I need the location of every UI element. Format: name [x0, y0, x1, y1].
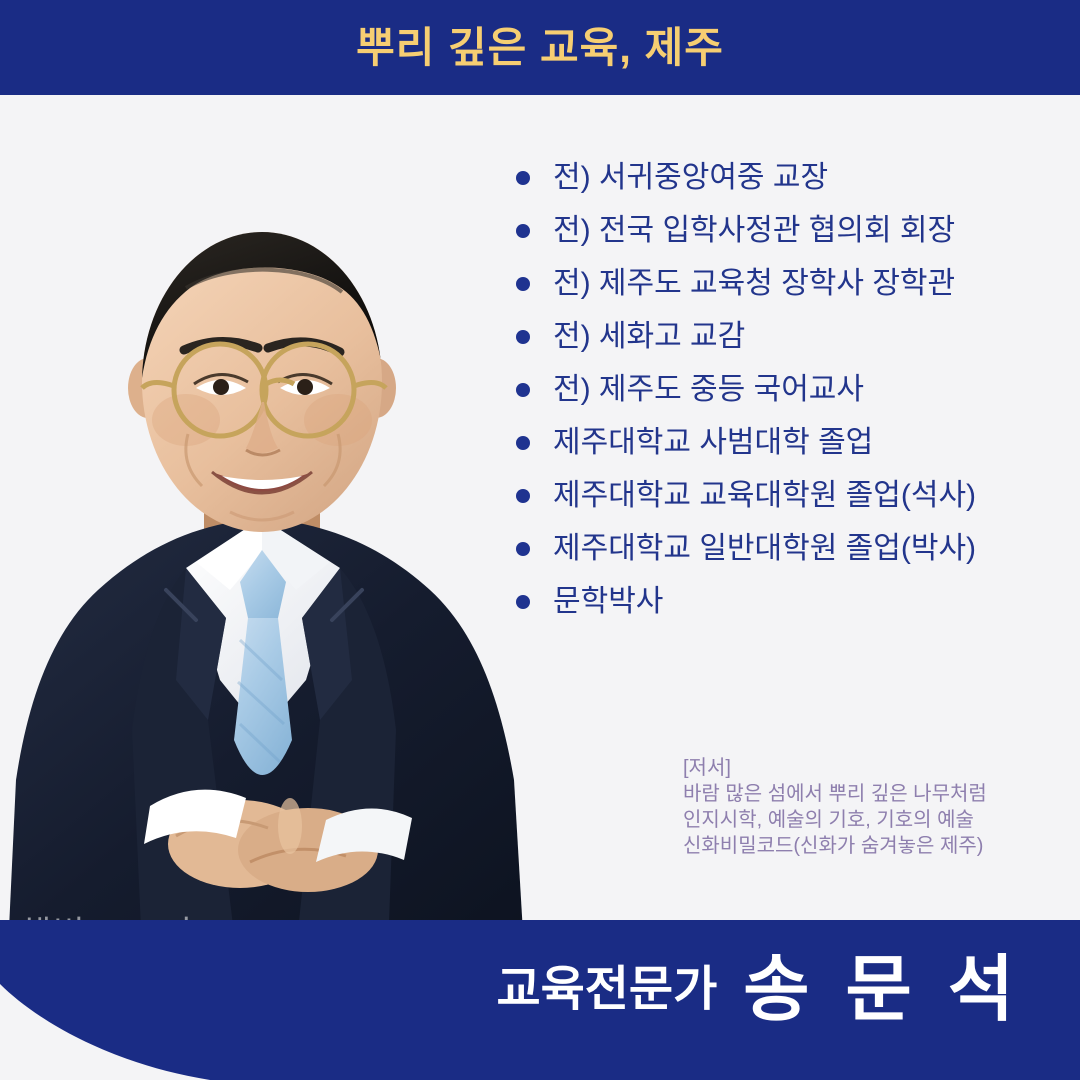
bullet-dot-icon	[516, 171, 530, 185]
bullet-dot-icon	[516, 224, 530, 238]
bullet-dot-icon	[516, 277, 530, 291]
publication-title: 신화비밀코드(신화가 숨겨놓은 제주)	[683, 833, 1080, 859]
list-item: 전) 서귀중앙여중 교장	[516, 158, 1076, 211]
credential-text: 전) 제주도 중등 국어교사	[553, 370, 864, 410]
bullet-dot-icon	[516, 489, 530, 503]
credential-text: 전) 제주도 교육청 장학사 장학관	[553, 264, 955, 304]
banner-text-group: 교육전문가 송 문 석	[0, 900, 1080, 1080]
credential-text: 제주대학교 교육대학원 졸업(석사)	[553, 476, 976, 516]
credential-text: 제주대학교 사범대학 졸업	[553, 423, 873, 463]
page-title: 뿌리 깊은 교육, 제주	[356, 27, 724, 69]
bullet-dot-icon	[516, 330, 530, 344]
publication-title: 인지시학, 예술의 기호, 기호의 예술	[683, 807, 1080, 833]
portrait-illustration	[0, 120, 550, 950]
bullet-dot-icon	[516, 595, 530, 609]
list-item: 전) 전국 입학사정관 협의회 회장	[516, 211, 1076, 264]
publication-title: 바람 많은 섬에서 뿌리 깊은 나무처럼	[683, 781, 1080, 807]
credentials-list: 전) 서귀중앙여중 교장 전) 전국 입학사정관 협의회 회장 전) 제주도 교…	[516, 158, 1076, 635]
list-item: 전) 제주도 중등 국어교사	[516, 370, 1076, 423]
credential-text: 제주대학교 일반대학원 졸업(박사)	[553, 529, 976, 569]
credential-text: 전) 서귀중앙여중 교장	[553, 158, 828, 198]
portrait-photo: 해병 491기	[0, 120, 550, 950]
banner-role-label: 교육전문가	[496, 966, 717, 1014]
credential-text: 문학박사	[553, 582, 663, 622]
credential-text: 전) 전국 입학사정관 협의회 회장	[553, 211, 955, 251]
bullet-dot-icon	[516, 436, 530, 450]
banner-person-name: 송 문 석	[743, 954, 1022, 1026]
bullet-dot-icon	[516, 383, 530, 397]
poster-root: 뿌리 깊은 교육, 제주	[0, 0, 1080, 1080]
list-item: 문학박사	[516, 582, 1076, 635]
bullet-dot-icon	[516, 542, 530, 556]
credential-text: 전) 세화고 교감	[553, 317, 745, 357]
bottom-banner: 교육전문가 송 문 석	[0, 900, 1080, 1080]
list-item: 전) 세화고 교감	[516, 317, 1076, 370]
header-bar: 뿌리 깊은 교육, 제주	[0, 0, 1080, 95]
publications-block: [저서] 바람 많은 섬에서 뿌리 깊은 나무처럼 인지시학, 예술의 기호, …	[683, 755, 1080, 859]
list-item: 제주대학교 사범대학 졸업	[516, 423, 1076, 476]
list-item: 제주대학교 교육대학원 졸업(석사)	[516, 476, 1076, 529]
publications-heading: [저서]	[683, 755, 1080, 781]
list-item: 전) 제주도 교육청 장학사 장학관	[516, 264, 1076, 317]
list-item: 제주대학교 일반대학원 졸업(박사)	[516, 529, 1076, 582]
